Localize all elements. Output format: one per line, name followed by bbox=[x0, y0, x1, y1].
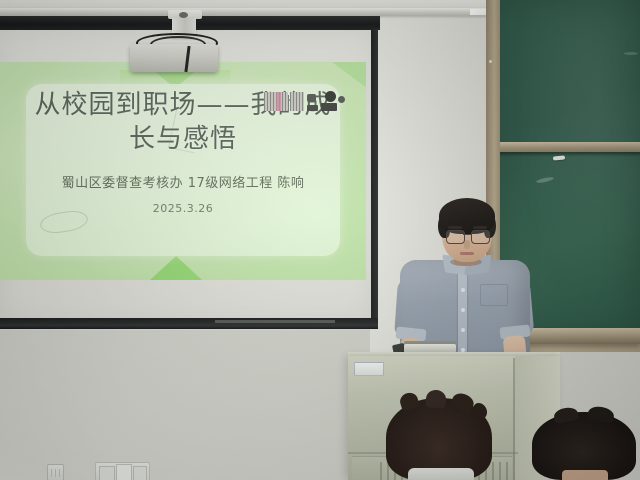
screen-right-edge bbox=[371, 29, 378, 329]
blackboard-frame-speck bbox=[489, 60, 492, 63]
wall-switch-rocker-left[interactable] bbox=[99, 466, 115, 480]
presenter-mouth bbox=[460, 252, 474, 255]
glasses-bridge bbox=[463, 234, 471, 235]
presenter-hair bbox=[439, 198, 495, 234]
presenter-shirt-button bbox=[461, 288, 465, 292]
wall-switch-rocker-right[interactable] bbox=[133, 466, 147, 480]
student-right-neck bbox=[562, 470, 608, 480]
projector-port-hdmi bbox=[307, 94, 316, 102]
wall-power-outlet[interactable] bbox=[47, 464, 64, 480]
projector-vent-accent bbox=[276, 92, 281, 111]
glasses-lens-right bbox=[471, 230, 490, 244]
slide-date: 2025.3.26 bbox=[26, 202, 340, 215]
blackboard-rail-shadow bbox=[494, 152, 640, 157]
projector-vent-grille-two bbox=[290, 92, 304, 111]
projector-light-beam bbox=[120, 70, 230, 84]
podium-asset-label bbox=[354, 362, 384, 376]
presenter-speaker bbox=[392, 196, 542, 364]
projector-port-round bbox=[338, 96, 345, 103]
projector-port-vga bbox=[307, 105, 318, 111]
student-left-collar bbox=[408, 468, 474, 480]
wall-switch-rocker-center[interactable] bbox=[116, 464, 132, 480]
projector-lens-knob bbox=[325, 91, 336, 102]
presenter-shirt-button bbox=[461, 328, 465, 332]
presenter-eyebrow-left bbox=[448, 226, 462, 229]
student-front-right bbox=[532, 412, 636, 480]
blackboard-chalk-rail bbox=[494, 142, 640, 152]
student-front-left bbox=[386, 398, 492, 480]
presenter-shirt-pocket bbox=[480, 284, 508, 306]
podium-seam-vertical bbox=[513, 358, 515, 480]
slide-title-line-2: 长与感悟 bbox=[26, 122, 340, 156]
classroom-scene: 从校园到职场——我的成 长与感悟 蜀山区委督查考核办 17级网络工程 陈响 20… bbox=[0, 0, 640, 480]
projector-body bbox=[130, 44, 218, 72]
projector-port-panel bbox=[321, 103, 337, 111]
presenter-shirt-button bbox=[461, 308, 465, 312]
presenter-eyebrow-right bbox=[473, 226, 487, 229]
wall-shadow-left bbox=[0, 330, 400, 480]
slide-chevron-bottom-icon bbox=[150, 256, 202, 280]
presenter-nose bbox=[464, 240, 470, 249]
blackboard-chalk-smudge bbox=[624, 52, 638, 55]
glasses-lens-left bbox=[446, 230, 465, 244]
slide-subtitle: 蜀山区委督查考核办 17级网络工程 陈响 bbox=[26, 172, 340, 191]
screen-bottom-weight-bar bbox=[0, 318, 378, 329]
